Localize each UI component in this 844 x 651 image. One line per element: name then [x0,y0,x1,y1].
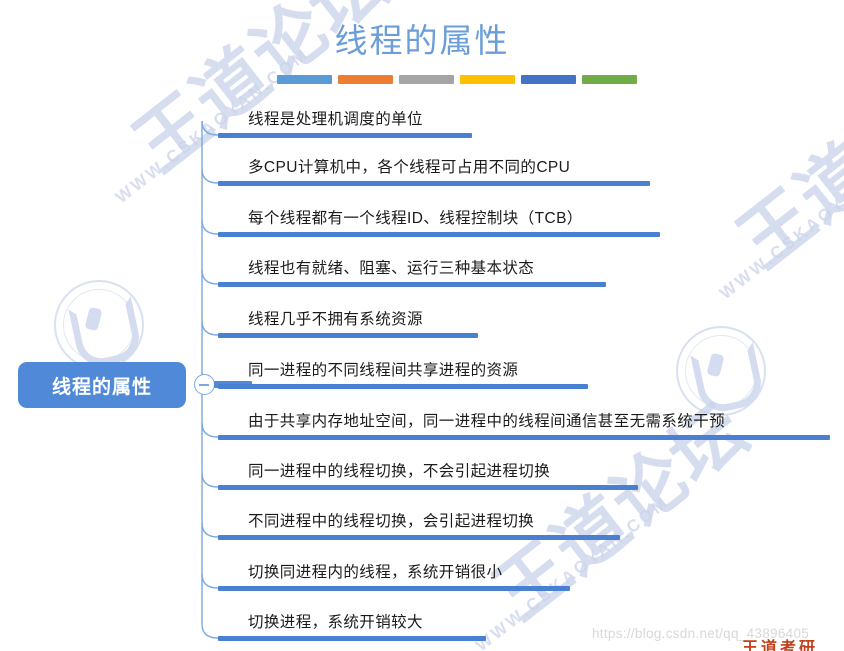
branch-label: 切换同进程内的线程，系统开销很小 [248,563,502,583]
branch-label: 线程几乎不拥有系统资源 [248,310,423,330]
branch-underline [218,435,830,440]
branch-underline [218,586,570,591]
branch-underline [218,133,472,138]
branch-label: 线程是处理机调度的单位 [248,110,423,130]
branch-label: 切换进程，系统开销较大 [248,613,423,633]
branch-label: 同一进程的不同线程间共享进程的资源 [248,361,518,381]
branch-label: 每个线程都有一个线程ID、线程控制块（TCB） [248,209,583,229]
branch-label: 线程也有就绪、阻塞、运行三种基本状态 [248,259,534,279]
branch-underline [218,636,486,641]
branch-underline [218,282,606,287]
root-node[interactable]: 线程的属性 [18,362,186,408]
mindmap: 线程的属性 线程是处理机调度的单位多CPU计算机中，各个线程可占用不同的CPU每… [0,0,844,651]
footer-brand-text: 王道考研 [742,634,818,651]
branch-underline [218,232,660,237]
branch-underline [218,535,620,540]
branch-label: 同一进程中的线程切换，不会引起进程切换 [248,462,550,482]
branch-label: 多CPU计算机中，各个线程可占用不同的CPU [248,158,570,178]
branch-underline [218,384,588,389]
branch-underline [218,333,478,338]
branch-label: 不同进程中的线程切换，会引起进程切换 [248,512,534,532]
root-node-label: 线程的属性 [52,372,152,399]
mindmap-canvas: 王道论坛 WWW.CSKAOYAN.COM 王道论坛 WWW.CSKAOYAN.… [0,0,844,651]
branch-underline [218,485,638,490]
collapse-toggle-icon[interactable] [194,374,215,395]
branch-label: 由于共享内存地址空间，同一进程中的线程间通信甚至无需系统干预 [248,412,725,432]
branch-underline [218,181,650,186]
